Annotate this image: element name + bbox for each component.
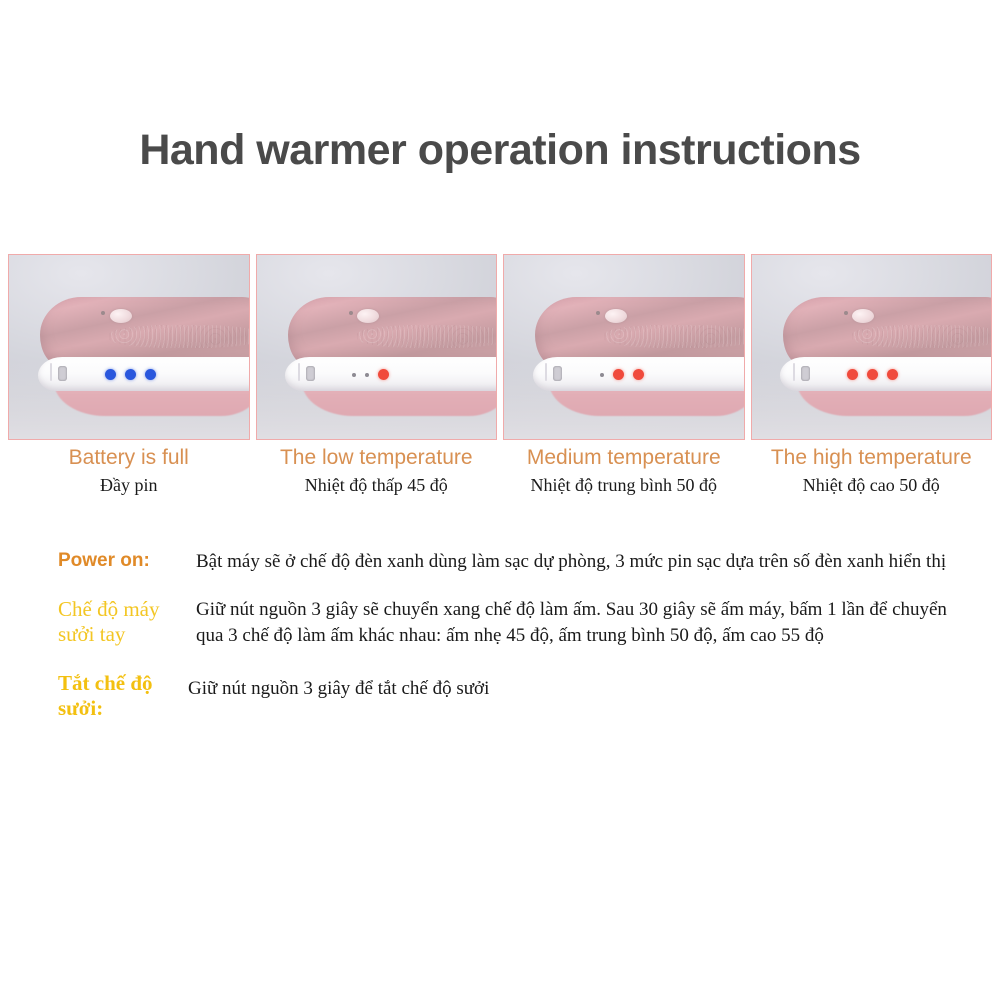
instruction-text-heating-mode: Giữ nút nguồn 3 giây sẽ chuyển xang chế … xyxy=(196,597,958,649)
device-metallic-shell xyxy=(288,297,497,365)
led-indicator xyxy=(847,369,858,380)
device-seam xyxy=(793,363,795,381)
device-power-button xyxy=(852,309,874,323)
caption-cell-2: The low temperature Nhiệt độ thấp 45 độ xyxy=(256,444,498,514)
product-photo-panel-4 xyxy=(751,254,993,440)
device-metallic-shell xyxy=(783,297,992,365)
caption-vietnamese: Nhiệt độ trung bình 50 độ xyxy=(503,472,745,499)
device-metallic-shell xyxy=(535,297,744,365)
device-usb-port xyxy=(58,366,67,381)
device-texture xyxy=(357,325,497,348)
device-white-band xyxy=(285,357,497,391)
product-photo-panel-3 xyxy=(503,254,745,440)
led-indicator-row-3 xyxy=(600,369,644,380)
led-indicator xyxy=(887,369,898,380)
led-indicator-row-2 xyxy=(352,369,389,380)
led-indicator xyxy=(105,369,116,380)
hand-warmer-device-1 xyxy=(40,297,249,411)
led-indicator xyxy=(145,369,156,380)
instruction-row-heating-mode: Chế độ máy sưởi tay Giữ nút nguồn 3 giây… xyxy=(58,597,958,649)
led-indicator xyxy=(352,373,356,377)
device-seam xyxy=(298,363,300,381)
device-pinhole xyxy=(844,311,848,315)
product-photo-panel-2 xyxy=(256,254,498,440)
instruction-label-power-on: Power on: xyxy=(58,548,196,573)
instruction-row-turn-off: Tắt chế độ sưởi: Giữ nút nguồn 3 giây để… xyxy=(58,671,958,721)
caption-english: Medium temperature xyxy=(503,444,745,472)
caption-english: Battery is full xyxy=(8,444,250,472)
page-title: Hand warmer operation instructions xyxy=(0,126,1000,175)
led-indicator xyxy=(867,369,878,380)
caption-english: The low temperature xyxy=(256,444,498,472)
hand-warmer-device-3 xyxy=(535,297,744,411)
led-indicator-row-4 xyxy=(847,369,898,380)
caption-strip: Battery is full Đầy pin The low temperat… xyxy=(8,444,992,514)
caption-vietnamese: Đầy pin xyxy=(8,472,250,499)
device-seam xyxy=(545,363,547,381)
device-usb-port xyxy=(306,366,315,381)
instruction-text-turn-off: Giữ nút nguồn 3 giây để tắt chế độ sưởi xyxy=(188,671,958,702)
device-usb-port xyxy=(553,366,562,381)
caption-vietnamese: Nhiệt độ cao 50 độ xyxy=(751,472,993,499)
device-metallic-shell xyxy=(40,297,249,365)
instruction-label-heating-mode: Chế độ máy sưởi tay xyxy=(58,597,196,647)
device-usb-port xyxy=(801,366,810,381)
led-indicator-row-1 xyxy=(105,369,156,380)
device-texture xyxy=(109,325,249,348)
product-photo-panel-1 xyxy=(8,254,250,440)
instruction-row-power-on: Power on: Bật máy sẽ ở chế độ đèn xanh d… xyxy=(58,548,958,575)
caption-cell-3: Medium temperature Nhiệt độ trung bình 5… xyxy=(503,444,745,514)
device-power-button xyxy=(605,309,627,323)
led-indicator xyxy=(613,369,624,380)
device-seam xyxy=(50,363,52,381)
device-texture xyxy=(604,325,744,348)
caption-cell-1: Battery is full Đầy pin xyxy=(8,444,250,514)
device-pinhole xyxy=(349,311,353,315)
device-power-button xyxy=(110,309,132,323)
instruction-list: Power on: Bật máy sẽ ở chế độ đèn xanh d… xyxy=(58,548,958,743)
hand-warmer-device-2 xyxy=(288,297,497,411)
hand-warmer-device-4 xyxy=(783,297,992,411)
caption-cell-4: The high temperature Nhiệt độ cao 50 độ xyxy=(751,444,993,514)
product-photo-strip xyxy=(8,254,992,440)
caption-english: The high temperature xyxy=(751,444,993,472)
led-indicator xyxy=(125,369,136,380)
instruction-label-turn-off: Tắt chế độ sưởi: xyxy=(58,671,188,721)
device-power-button xyxy=(357,309,379,323)
led-indicator xyxy=(600,373,604,377)
led-indicator xyxy=(365,373,369,377)
device-texture xyxy=(852,325,992,348)
led-indicator xyxy=(378,369,389,380)
led-indicator xyxy=(633,369,644,380)
caption-vietnamese: Nhiệt độ thấp 45 độ xyxy=(256,472,498,499)
instruction-text-power-on: Bật máy sẽ ở chế độ đèn xanh dùng làm sạ… xyxy=(196,548,958,575)
